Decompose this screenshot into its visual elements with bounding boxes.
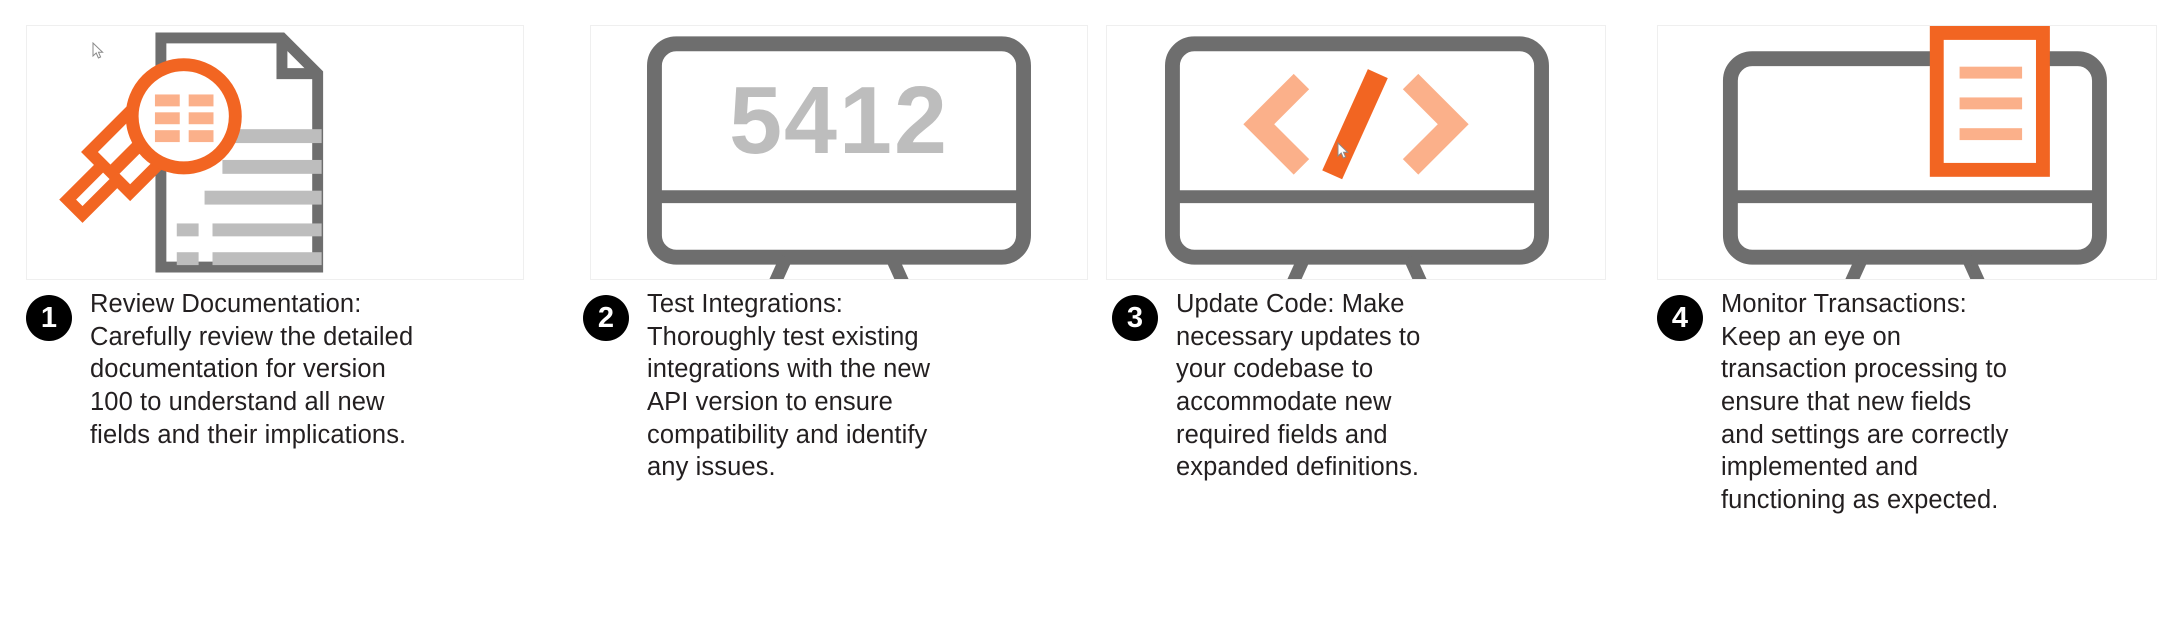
overlay-doc-line-1 [1960, 67, 2023, 79]
lens-grid-cell [155, 130, 180, 142]
lens-grid-cell [189, 130, 214, 142]
step-badge-4: 4 [1657, 295, 1703, 341]
monitor-frame [1172, 44, 1541, 257]
monitor-number-icon: 5412 [591, 26, 1087, 279]
step-card-2[interactable]: 5412 2 Test Integrations: Thoroughly tes… [545, 0, 1090, 637]
step-badge-1: 1 [26, 295, 72, 341]
monitor-document-icon [1658, 26, 2156, 279]
lens-grid-cell [189, 112, 214, 124]
doc-bullet-2 [177, 252, 199, 265]
caption-2: 2 Test Integrations: Thoroughly test exi… [583, 288, 1088, 484]
monitor-code-icon [1107, 26, 1605, 279]
infographic-board: 1 Review Documentation: Carefully review… [0, 0, 2180, 637]
step-card-4[interactable]: 4 Monitor Transactions: Keep an eye on t… [1635, 0, 2180, 637]
doc-bullet-1 [177, 223, 199, 236]
step-text-4: Monitor Transactions: Keep an eye on tra… [1721, 288, 2021, 516]
step-badge-3: 3 [1112, 295, 1158, 341]
screen-number: 5412 [729, 68, 949, 174]
overlay-doc-line-2 [1960, 97, 2023, 109]
magnifier-lens [132, 65, 235, 168]
illustration-frame-2: 5412 [590, 25, 1088, 280]
caption-4: 4 Monitor Transactions: Keep an eye on t… [1657, 288, 2162, 516]
caption-3: 3 Update Code: Make necessary updates to… [1112, 288, 1617, 484]
lens-grid-cell [155, 94, 180, 106]
doc-line-2 [222, 160, 321, 174]
step-badge-2: 2 [583, 295, 629, 341]
doc-line-4 [212, 223, 321, 236]
caption-1: 1 Review Documentation: Carefully review… [26, 288, 531, 451]
step-text-2: Test Integrations: Thoroughly test exist… [647, 288, 972, 484]
document-magnifier-icon [27, 26, 523, 279]
overlay-doc-line-3 [1960, 128, 2023, 140]
lens-grid-cell [155, 112, 180, 124]
illustration-frame-4 [1657, 25, 2157, 280]
step-card-3[interactable]: 3 Update Code: Make necessary updates to… [1090, 0, 1635, 637]
step-card-1[interactable]: 1 Review Documentation: Carefully review… [0, 0, 545, 637]
step-text-3: Update Code: Make necessary updates to y… [1176, 288, 1476, 484]
illustration-frame-3 [1106, 25, 1606, 280]
doc-line-5 [212, 252, 321, 265]
lens-grid-cell [189, 94, 214, 106]
steps-row: 1 Review Documentation: Carefully review… [0, 0, 2180, 637]
doc-line-3 [205, 191, 322, 205]
illustration-frame-1 [26, 25, 524, 280]
step-text-1: Review Documentation: Carefully review t… [90, 288, 420, 451]
